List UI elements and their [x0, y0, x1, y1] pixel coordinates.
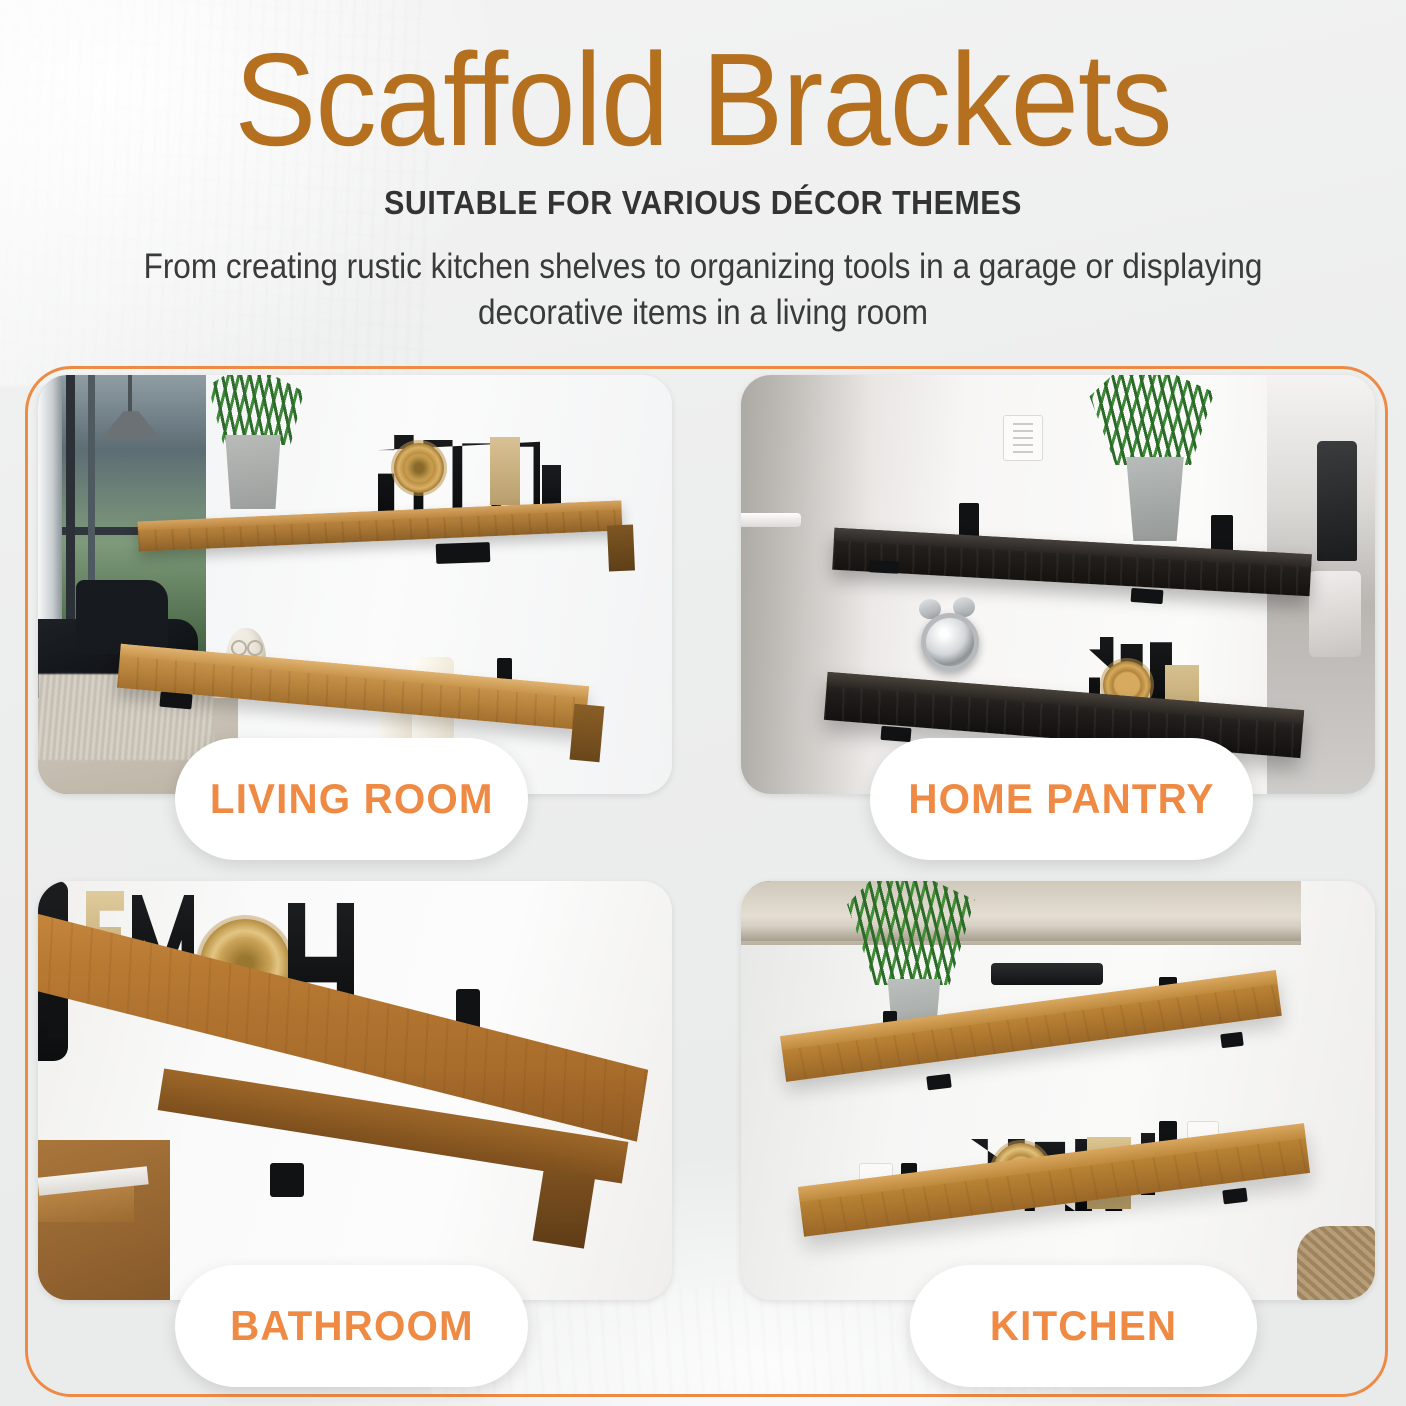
lower-shelf-end-grain	[570, 704, 605, 762]
plant-pot	[220, 435, 286, 509]
label-pill-kitchen[interactable]: KITCHEN	[910, 1265, 1257, 1387]
grass-plant	[208, 375, 304, 445]
bottle-item	[1317, 441, 1357, 561]
living-room-photo	[38, 375, 672, 794]
header: Scaffold Brackets SUITABLE FOR VARIOUS D…	[0, 0, 1406, 335]
woven-basket	[1297, 1226, 1375, 1300]
container-item	[1309, 571, 1361, 657]
shelf-bracket	[1131, 588, 1164, 604]
page-description: From creating rustic kitchen shelves to …	[70, 244, 1335, 335]
gear-clock-icon	[394, 443, 444, 493]
photo-card-bathroom[interactable]	[38, 881, 672, 1300]
label-pill-living-room[interactable]: LIVING ROOM	[175, 738, 528, 860]
shelf-bracket	[1222, 1188, 1248, 1205]
wall-socket	[1003, 415, 1043, 461]
upper-shelf-end-grain	[607, 524, 635, 571]
photo-card-living-room[interactable]	[38, 375, 672, 794]
page-title: Scaffold Brackets	[49, 34, 1357, 166]
pendant-lamp-rod	[128, 375, 132, 415]
shelf-bracket	[1220, 1032, 1244, 1049]
corner-shadow	[741, 375, 871, 794]
alarm-clock-icon	[921, 613, 979, 671]
label-pill-home-pantry[interactable]: HOME PANTRY	[870, 738, 1253, 860]
shelf-bracket	[869, 560, 900, 574]
label-text-home-pantry: HOME PANTRY	[908, 775, 1214, 823]
label-text-kitchen: KITCHEN	[990, 1302, 1177, 1350]
photo-card-kitchen[interactable]	[741, 881, 1375, 1300]
bathroom-photo	[38, 881, 672, 1300]
label-text-living-room: LIVING ROOM	[210, 775, 494, 823]
shelf-bracket	[48, 991, 66, 1039]
label-pill-bathroom[interactable]: BATHROOM	[175, 1265, 528, 1387]
wall-ledge	[741, 513, 801, 527]
shelf-bracket	[159, 692, 192, 710]
counter-edge	[741, 925, 1301, 941]
shelf-bracket	[926, 1074, 952, 1091]
shelf-bracket	[270, 1163, 304, 1197]
home-pantry-photo	[741, 375, 1375, 794]
shelf-bracket	[436, 542, 491, 564]
shelf-bracket	[880, 726, 911, 742]
collage-grid	[38, 375, 1375, 1385]
infographic-page: Scaffold Brackets SUITABLE FOR VARIOUS D…	[0, 0, 1406, 1406]
page-subtitle: SUITABLE FOR VARIOUS DÉCOR THEMES	[56, 184, 1350, 222]
wooden-letter-e	[490, 437, 520, 505]
kitchen-photo	[741, 881, 1375, 1300]
photo-card-home-pantry[interactable]	[741, 375, 1375, 794]
black-tool-holder	[991, 963, 1103, 985]
label-text-bathroom: BATHROOM	[230, 1302, 474, 1350]
